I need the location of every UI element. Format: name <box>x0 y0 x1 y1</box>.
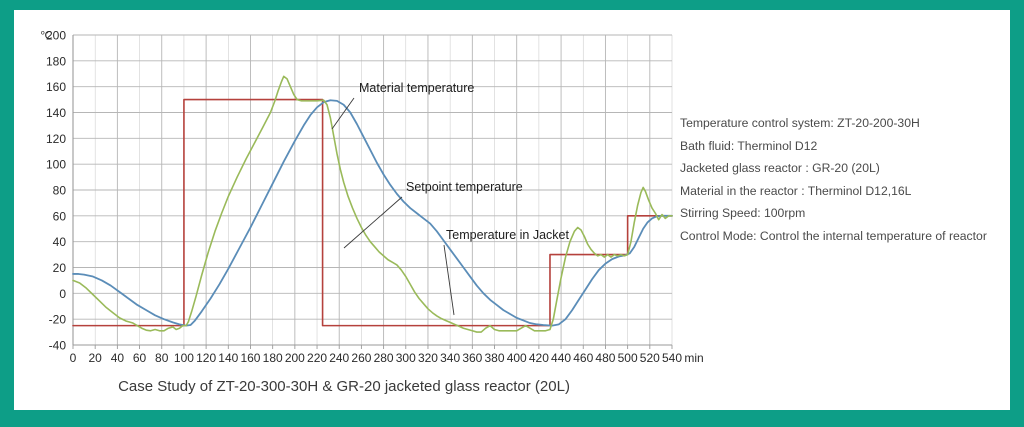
x-tick-label: 60 <box>133 351 147 365</box>
x-tick-label: 160 <box>240 351 260 365</box>
x-tick-label: 480 <box>595 351 615 365</box>
y-tick-label: 160 <box>46 80 66 94</box>
y-tick-label: 60 <box>53 209 67 223</box>
y-tick-label: -40 <box>49 339 67 353</box>
spec-line: Control Mode: Control the internal tempe… <box>680 225 1010 248</box>
y-tick-label: 100 <box>46 158 66 172</box>
teal-frame: -40-20020406080100120140160180200℃020406… <box>0 0 1024 427</box>
y-tick-label: -20 <box>49 313 67 327</box>
y-axis-tick-labels: -40-20020406080100120140160180200 <box>46 29 66 353</box>
x-tick-label: 200 <box>285 351 305 365</box>
x-tick-label: 100 <box>174 351 194 365</box>
chart-title: Case Study of ZT-20-300-30H & GR-20 jack… <box>14 378 674 395</box>
y-tick-label: 140 <box>46 106 66 120</box>
x-tick-label: 320 <box>418 351 438 365</box>
spec-line: Stirring Speed: 100rpm <box>680 202 1010 225</box>
x-tick-label: 0 <box>70 351 77 365</box>
x-tick-label: 360 <box>462 351 482 365</box>
y-tick-label: 0 <box>59 287 66 301</box>
x-tick-label: 460 <box>573 351 593 365</box>
x-tick-label: 280 <box>374 351 394 365</box>
x-tick-label: 20 <box>89 351 103 365</box>
x-tick-label: 400 <box>507 351 527 365</box>
x-tick-label: 40 <box>111 351 125 365</box>
chart-plot-container: -40-20020406080100120140160180200℃020406… <box>14 10 714 380</box>
x-tick-label: 120 <box>196 351 216 365</box>
chart-card: -40-20020406080100120140160180200℃020406… <box>14 10 1010 410</box>
annotation-label: Material temperature <box>359 81 474 95</box>
x-axis-unit-label: min <box>684 351 703 365</box>
temperature-profile-chart: -40-20020406080100120140160180200℃020406… <box>14 10 714 380</box>
x-tick-label: 300 <box>396 351 416 365</box>
x-tick-label: 240 <box>329 351 349 365</box>
annotation-label: Setpoint temperature <box>406 180 523 194</box>
y-tick-label: 40 <box>53 235 67 249</box>
spec-line: Material in the reactor : Therminol D12,… <box>680 180 1010 203</box>
x-tick-label: 340 <box>440 351 460 365</box>
x-tick-label: 80 <box>155 351 169 365</box>
spec-line: Temperature control system: ZT-20-200-30… <box>680 112 1010 135</box>
x-tick-label: 420 <box>529 351 549 365</box>
y-tick-label: 20 <box>53 261 67 275</box>
y-axis-unit-label: ℃ <box>40 30 52 42</box>
x-tick-label: 540 <box>662 351 682 365</box>
x-tick-label: 520 <box>640 351 660 365</box>
x-tick-label: 140 <box>218 351 238 365</box>
spec-line: Jacketed glass reactor : GR-20 (20L) <box>680 157 1010 180</box>
x-tick-label: 380 <box>485 351 505 365</box>
y-tick-label: 120 <box>46 132 66 146</box>
y-tick-label: 180 <box>46 54 66 68</box>
y-tick-label: 80 <box>53 184 67 198</box>
specification-list: Temperature control system: ZT-20-200-30… <box>680 112 1010 247</box>
x-tick-label: 500 <box>618 351 638 365</box>
spec-line: Bath fluid: Therminol D12 <box>680 135 1010 158</box>
x-axis-tick-labels: 0204060801001201401601802002202402602803… <box>70 351 683 365</box>
x-tick-label: 220 <box>307 351 327 365</box>
x-tick-label: 440 <box>551 351 571 365</box>
annotation-label: Temperature in Jacket <box>446 228 570 242</box>
x-tick-label: 180 <box>263 351 283 365</box>
x-tick-label: 260 <box>351 351 371 365</box>
